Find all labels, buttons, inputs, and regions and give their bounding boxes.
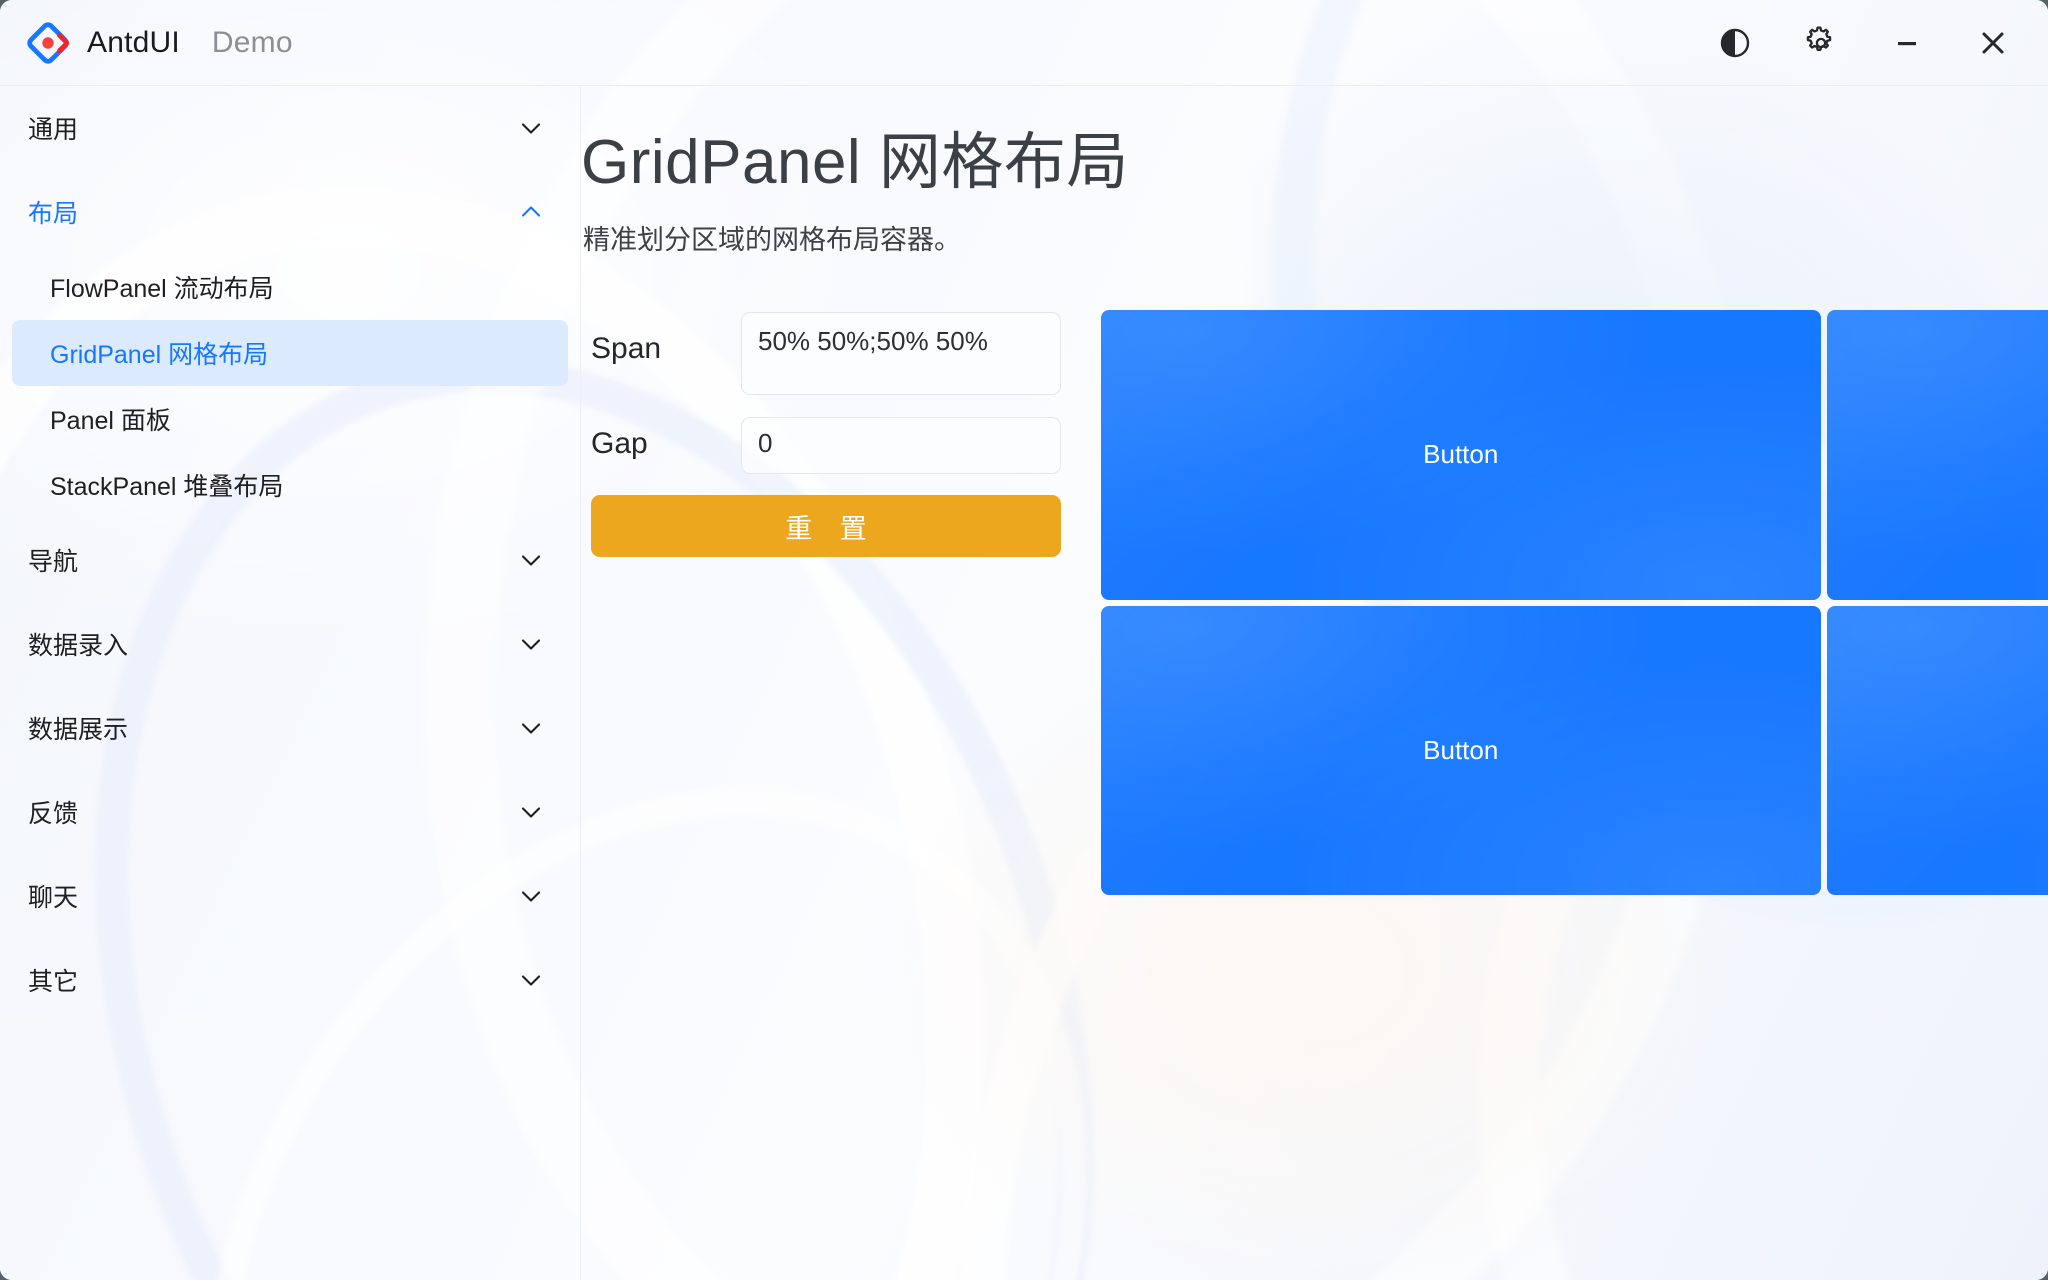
sidebar-item-label: GridPanel 网格布局 [50,335,268,371]
brand: AntdUI Demo [27,22,293,64]
span-input[interactable]: 50% 50%;50% 50% [741,312,1061,395]
sidebar-group-qita[interactable]: 其它 [0,938,580,1022]
demo-button-label: Button [1423,439,1498,470]
sidebar-item-gridpanel[interactable]: GridPanel 网格布局 [12,320,568,386]
sidebar-divider [580,86,581,1280]
reset-button[interactable]: 重 置 [591,495,1061,557]
antdui-diamond-logo-icon [27,22,69,64]
sidebar-item-label: FlowPanel 流动布局 [50,269,274,305]
window-controls [1692,0,2036,86]
page-subtitle: 精准划分区域的网格布局容器。 [583,218,961,257]
minimize-icon [1890,26,1924,60]
sidebar-group-tongyong[interactable]: 通用 [0,86,580,170]
chevron-down-icon [518,547,544,573]
demo-button-2[interactable]: Button [1827,310,2048,600]
sidebar: 通用 布局 FlowPanel 流动布局 GridPanel 网格布局 Pane… [0,86,580,1280]
chevron-down-icon [518,631,544,657]
gap-label: Gap [591,417,741,459]
app-window: AntdUI Demo [0,0,2048,1280]
demo-button-4[interactable]: Button [1827,606,2048,896]
sidebar-item-flowpanel[interactable]: FlowPanel 流动布局 [12,254,568,320]
sidebar-group-shujuzhanshi[interactable]: 数据展示 [0,686,580,770]
sidebar-group-label: 聊天 [28,878,78,914]
sidebar-item-panel[interactable]: Panel 面板 [12,386,568,452]
gear-icon [1804,26,1838,60]
demo-button-3[interactable]: Button [1101,606,1821,896]
chevron-down-icon [518,799,544,825]
close-icon [1974,24,2012,62]
chevron-down-icon [518,883,544,909]
chevron-down-icon [518,115,544,141]
sidebar-group-label: 数据展示 [28,710,128,746]
sidebar-group-daohang[interactable]: 导航 [0,518,580,602]
sidebar-group-fankui[interactable]: 反馈 [0,770,580,854]
close-button[interactable] [1950,10,2036,76]
titlebar-divider [0,85,2048,86]
gap-field-row: Gap 0 [591,417,1061,474]
title-bar: AntdUI Demo [0,0,2048,86]
button-sheen [1827,606,2048,896]
span-label: Span [591,312,741,364]
minimize-button[interactable] [1864,10,1950,76]
chevron-up-icon [518,199,544,225]
app-subtitle: Demo [212,26,293,60]
page-title: GridPanel 网格布局 [581,111,1129,201]
sidebar-group-buju[interactable]: 布局 [0,170,580,254]
sidebar-group-label: 导航 [28,542,78,578]
sidebar-item-label: Panel 面板 [50,401,171,437]
sidebar-group-shujuluru[interactable]: 数据录入 [0,602,580,686]
gap-input[interactable]: 0 [741,417,1061,474]
settings-button[interactable] [1778,10,1864,76]
app-title: AntdUI [87,26,180,60]
sidebar-group-label: 其它 [28,962,78,998]
sidebar-group-label: 布局 [28,194,78,230]
sidebar-item-label: StackPanel 堆叠布局 [50,467,283,503]
demo-button-label: Button [1423,735,1498,766]
chevron-down-icon [518,715,544,741]
content-area: GridPanel 网格布局 精准划分区域的网格布局容器。 Span 50% 5… [581,86,2048,1280]
settings-form: Span 50% 50%;50% 50% Gap 0 重 置 [591,312,1061,557]
sidebar-group-label: 通用 [28,110,78,146]
demo-button-1[interactable]: Button [1101,310,1821,600]
chevron-down-icon [518,967,544,993]
sidebar-group-label: 数据录入 [28,626,128,662]
sidebar-item-stackpanel[interactable]: StackPanel 堆叠布局 [12,452,568,518]
grid-panel-demo: Button Button Button Button [1101,310,2048,895]
button-sheen [1827,310,2048,600]
contrast-circle-icon [1719,27,1751,59]
sidebar-group-liaotian[interactable]: 聊天 [0,854,580,938]
span-field-row: Span 50% 50%;50% 50% [591,312,1061,395]
sidebar-group-label: 反馈 [28,794,78,830]
theme-toggle-button[interactable] [1692,10,1778,76]
